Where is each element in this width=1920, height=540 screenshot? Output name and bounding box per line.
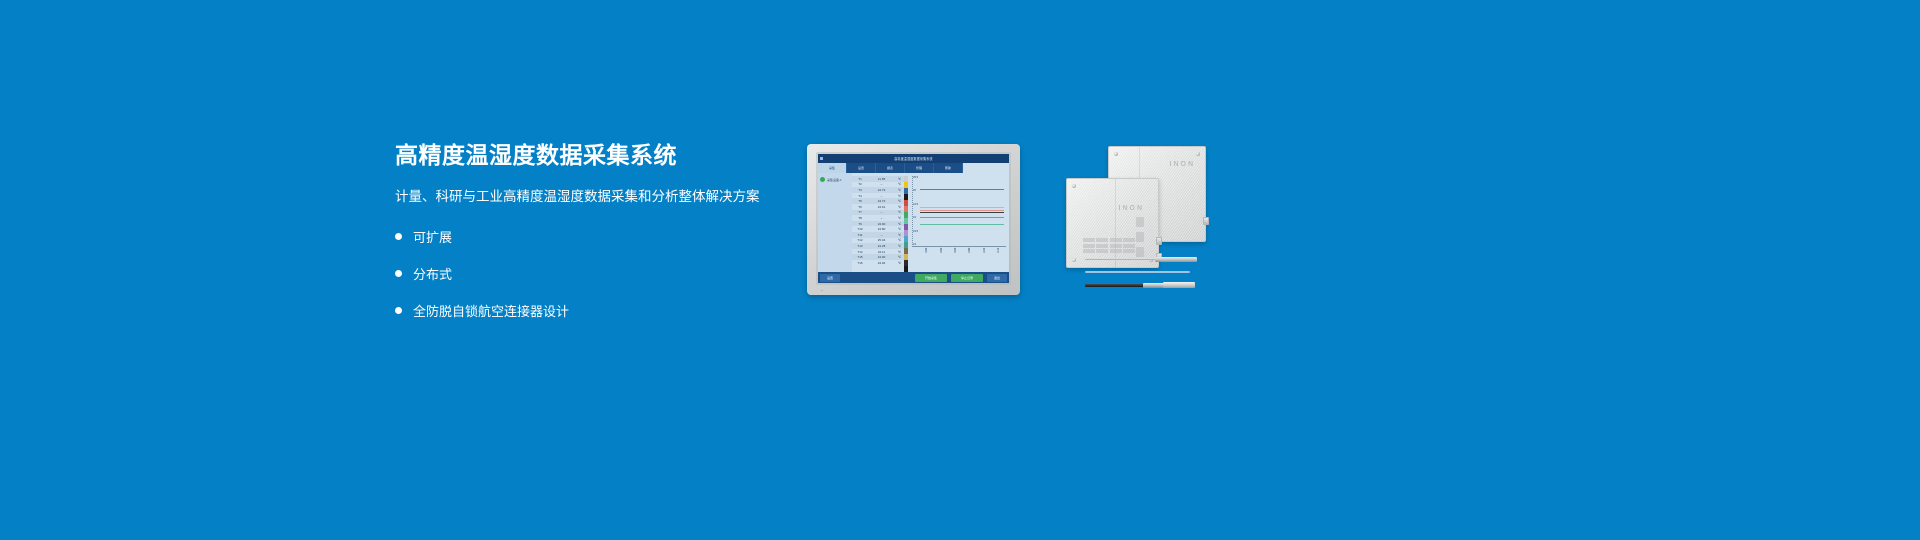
tab-collect[interactable]: 采集 <box>818 163 847 173</box>
bullet-dot-icon <box>395 233 402 240</box>
channel-unit: ℃ <box>895 244 904 248</box>
page-subtitle: 计量、科研与工业高精度温湿度数据采集和分析整体解决方案 <box>395 188 795 206</box>
acquisition-module-front: INON <box>1066 178 1159 268</box>
x-tick-label: 10:50 <box>968 248 971 253</box>
terminal-cell <box>1083 244 1095 248</box>
channel-value: 25.04 <box>868 238 895 242</box>
app-window-title: 高精度温湿度数据采集系统 <box>894 156 932 160</box>
connector-block-icon <box>1136 217 1144 227</box>
y-tick-label: 23.5 <box>913 230 921 233</box>
device-screen: 高精度温湿度数据采集系统 采集 设置 报表 管理 帮助 采集设备-1 <box>818 154 1009 283</box>
tabbar-filler <box>963 163 1009 173</box>
channel-id: T5 <box>852 199 868 203</box>
channel-value: 24.11 <box>868 250 895 254</box>
start-collect-button[interactable]: 开始采集 <box>915 274 947 282</box>
screw-icon <box>1196 152 1200 156</box>
probe-cable <box>1085 271 1190 273</box>
promo-banner: 高精度温湿度数据采集系统 计量、科研与工业高精度温湿度数据采集和分析整体解决方案… <box>0 0 1920 540</box>
channel-value: 24.90 <box>868 255 895 259</box>
x-tick-label: 10:20 <box>925 248 928 253</box>
channel-id: T3 <box>852 188 868 192</box>
feature-label: 分布式 <box>413 264 452 283</box>
trend-line <box>920 207 1004 208</box>
app-logo-icon <box>820 157 823 160</box>
sensor-probes-group <box>1085 256 1205 295</box>
x-tick-label: 11:10 <box>997 248 1000 253</box>
channel-unit: ℃ <box>895 199 904 203</box>
channel-value: -- <box>868 216 895 220</box>
tab-settings[interactable]: 设置 <box>847 163 876 173</box>
module-brand-label: INON <box>1119 205 1145 212</box>
channel-id: T8 <box>852 216 868 220</box>
channel-unit: ℃ <box>895 216 904 220</box>
channel-value: -- <box>868 210 895 214</box>
channel-value: 24.61 <box>868 205 895 209</box>
channel-unit: ℃ <box>895 255 904 259</box>
channel-value: 24.80 <box>868 227 895 231</box>
panel-pc-device: 高精度温湿度数据采集系统 采集 设置 报表 管理 帮助 采集设备-1 <box>807 144 1020 295</box>
tab-reports[interactable]: 报表 <box>876 163 905 173</box>
app-footer: 设置 开始采集 停止记录 退出 <box>818 272 1009 283</box>
connector-block-icon <box>1136 232 1144 242</box>
bullet-dot-icon <box>395 270 402 277</box>
app-body: 采集设备-1 T121.85℃T2--℃T324.79℃T4--℃T524.72… <box>818 173 1009 272</box>
channel-value: 24.72 <box>868 199 895 203</box>
channel-table: T121.85℃T2--℃T324.79℃T4--℃T524.72℃T624.6… <box>852 173 904 272</box>
list-item: 分布式 <box>395 264 795 283</box>
feature-label: 可扩展 <box>413 227 452 246</box>
exit-button[interactable]: 退出 <box>987 274 1007 282</box>
channel-id: T14 <box>852 250 868 254</box>
page-title: 高精度温湿度数据采集系统 <box>395 142 795 170</box>
chart-x-axis: 10:2010:3010:4010:5011:0011:10 <box>912 248 1006 253</box>
channel-value: 24.90 <box>868 222 895 226</box>
trend-line <box>920 217 1004 218</box>
x-tick-label: 10:40 <box>954 248 957 253</box>
channel-id: T2 <box>852 182 868 186</box>
status-online-icon <box>820 177 825 182</box>
connector-probe <box>1085 282 1205 288</box>
y-tick-label: 25.5 <box>913 176 921 179</box>
device-node-label: 采集设备-1 <box>827 178 842 182</box>
module-brand-label: INON <box>1170 161 1196 168</box>
channel-id: T4 <box>852 194 868 198</box>
channel-id: T16 <box>852 261 868 265</box>
terminal-cell <box>1096 244 1108 248</box>
stop-record-button[interactable]: 停止记录 <box>951 274 983 282</box>
channel-unit: ℃ <box>895 177 904 181</box>
device-bezel: 高精度温湿度数据采集系统 采集 设置 报表 管理 帮助 采集设备-1 <box>816 152 1011 285</box>
channel-value: -- <box>868 182 895 186</box>
terminal-cell <box>1123 249 1135 253</box>
channel-id: T7 <box>852 210 868 214</box>
device-tree-node[interactable]: 采集设备-1 <box>820 177 850 182</box>
trend-line <box>920 189 1004 190</box>
x-tick-label: 10:30 <box>940 248 943 253</box>
connector-port-icon <box>1156 237 1162 245</box>
channel-value: 24.94 <box>868 261 895 265</box>
trend-line <box>920 224 1004 225</box>
bullet-dot-icon <box>395 307 402 314</box>
y-tick-label: 23 <box>913 243 921 246</box>
trend-chart: 25.52524.52423.523 <box>912 176 1006 247</box>
channel-value: 24.79 <box>868 188 895 192</box>
channel-value: 24.28 <box>868 244 895 248</box>
tab-manage[interactable]: 管理 <box>905 163 934 173</box>
y-tick-label: 25 <box>913 189 921 192</box>
channel-unit: ℃ <box>895 261 904 265</box>
terminal-block-grid <box>1083 238 1135 253</box>
channel-id: T10 <box>852 227 868 231</box>
probe-body <box>1163 282 1195 288</box>
terminal-cell <box>1096 249 1108 253</box>
app-tabbar: 采集 设置 报表 管理 帮助 <box>818 163 1009 173</box>
probe-rod <box>1085 258 1159 260</box>
channel-id: T9 <box>852 222 868 226</box>
channel-value: -- <box>868 233 895 237</box>
channel-id: T1 <box>852 177 868 181</box>
terminal-cell <box>1123 244 1135 248</box>
channel-unit: ℃ <box>895 222 904 226</box>
terminal-cell <box>1123 238 1135 242</box>
device-stand: ⌐ <box>821 288 823 293</box>
probe-connector <box>1143 283 1165 288</box>
channel-unit: ℃ <box>895 205 904 209</box>
channel-id: T12 <box>852 238 868 242</box>
trend-chart-pane: 25.52524.52423.523 10:2010:3010:4010:501… <box>908 173 1009 272</box>
screw-icon <box>1114 152 1118 156</box>
channel-id: T15 <box>852 255 868 259</box>
channel-unit: ℃ <box>895 182 904 186</box>
channel-unit: ℃ <box>895 210 904 214</box>
trend-line <box>920 210 1004 211</box>
channel-id: T6 <box>852 205 868 209</box>
list-item: 可扩展 <box>395 227 795 246</box>
terminal-cell <box>1110 249 1122 253</box>
rigid-probe <box>1085 256 1205 262</box>
settings-button[interactable]: 设置 <box>820 274 840 282</box>
screw-icon <box>1072 258 1076 262</box>
channel-unit: ℃ <box>895 194 904 198</box>
terminal-cell <box>1110 238 1122 242</box>
channel-value: 21.85 <box>868 177 895 181</box>
terminal-cell <box>1083 249 1095 253</box>
trend-line <box>920 212 1004 213</box>
terminal-cell <box>1110 244 1122 248</box>
chart-y-axis: 25.52524.52423.523 <box>913 176 921 246</box>
tab-help[interactable]: 帮助 <box>934 163 963 173</box>
feature-list: 可扩展 分布式 全防脱自锁航空连接器设计 <box>395 227 795 320</box>
channel-id: T11 <box>852 233 868 237</box>
x-tick-label: 11:00 <box>983 248 986 253</box>
channel-unit: ℃ <box>895 238 904 242</box>
channel-unit: ℃ <box>895 227 904 231</box>
copy-block: 高精度温湿度数据采集系统 计量、科研与工业高精度温湿度数据采集和分析整体解决方案… <box>395 142 795 338</box>
channel-value: -- <box>868 194 895 198</box>
app-titlebar: 高精度温湿度数据采集系统 <box>818 154 1009 163</box>
connector-port-icon <box>1203 217 1209 225</box>
feature-label: 全防脱自锁航空连接器设计 <box>413 301 569 320</box>
cable-probe <box>1085 269 1205 275</box>
screw-icon <box>1072 184 1076 188</box>
list-item: 全防脱自锁航空连接器设计 <box>395 301 795 320</box>
connector-column <box>1136 217 1144 257</box>
channel-unit: ℃ <box>895 233 904 237</box>
probe-tip <box>1155 257 1197 262</box>
channel-id: T13 <box>852 244 868 248</box>
terminal-cell <box>1083 238 1095 242</box>
channel-unit: ℃ <box>895 188 904 192</box>
channel-unit: ℃ <box>895 250 904 254</box>
device-tree-pane: 采集设备-1 <box>818 173 852 272</box>
y-tick-label: 24.5 <box>913 203 921 206</box>
probe-cable-dark <box>1085 284 1147 287</box>
table-row[interactable]: T1624.94℃ <box>852 260 904 266</box>
module-seam <box>1115 179 1116 267</box>
terminal-cell <box>1096 238 1108 242</box>
